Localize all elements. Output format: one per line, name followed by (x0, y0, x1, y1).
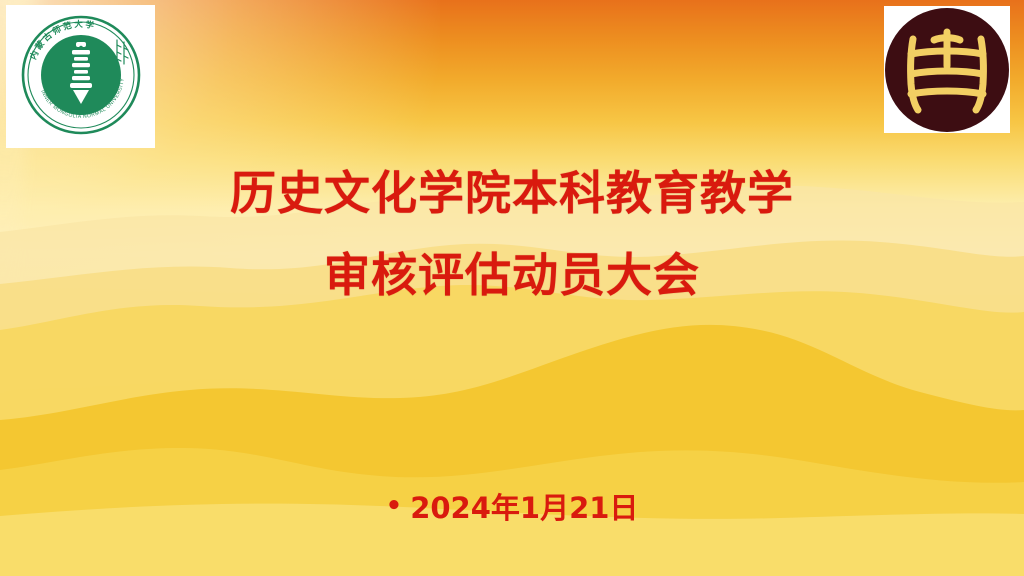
university-seal-icon: 内蒙古师范大学 INNER MONGOLIA NORMAL UNIVERSITY (14, 12, 148, 142)
title-line-1: 历史文化学院本科教育教学 (0, 152, 1024, 234)
date-text: 2024年1月21日 (410, 491, 638, 525)
bullet-icon: • (386, 493, 403, 519)
ridge-mid (0, 285, 1024, 576)
slide-title: 历史文化学院本科教育教学 审核评估动员大会 (0, 152, 1024, 316)
presentation-slide: 内蒙古师范大学 INNER MONGOLIA NORMAL UNIVERSITY (0, 0, 1024, 576)
college-logo-plate (884, 6, 1010, 133)
dune-main (0, 325, 1024, 576)
title-line-2: 审核评估动员大会 (0, 234, 1024, 316)
slide-date: •2024年1月21日 (0, 485, 1024, 527)
university-logo-plate: 内蒙古师范大学 INNER MONGOLIA NORMAL UNIVERSITY (6, 5, 155, 148)
history-college-emblem-icon (884, 6, 1010, 133)
